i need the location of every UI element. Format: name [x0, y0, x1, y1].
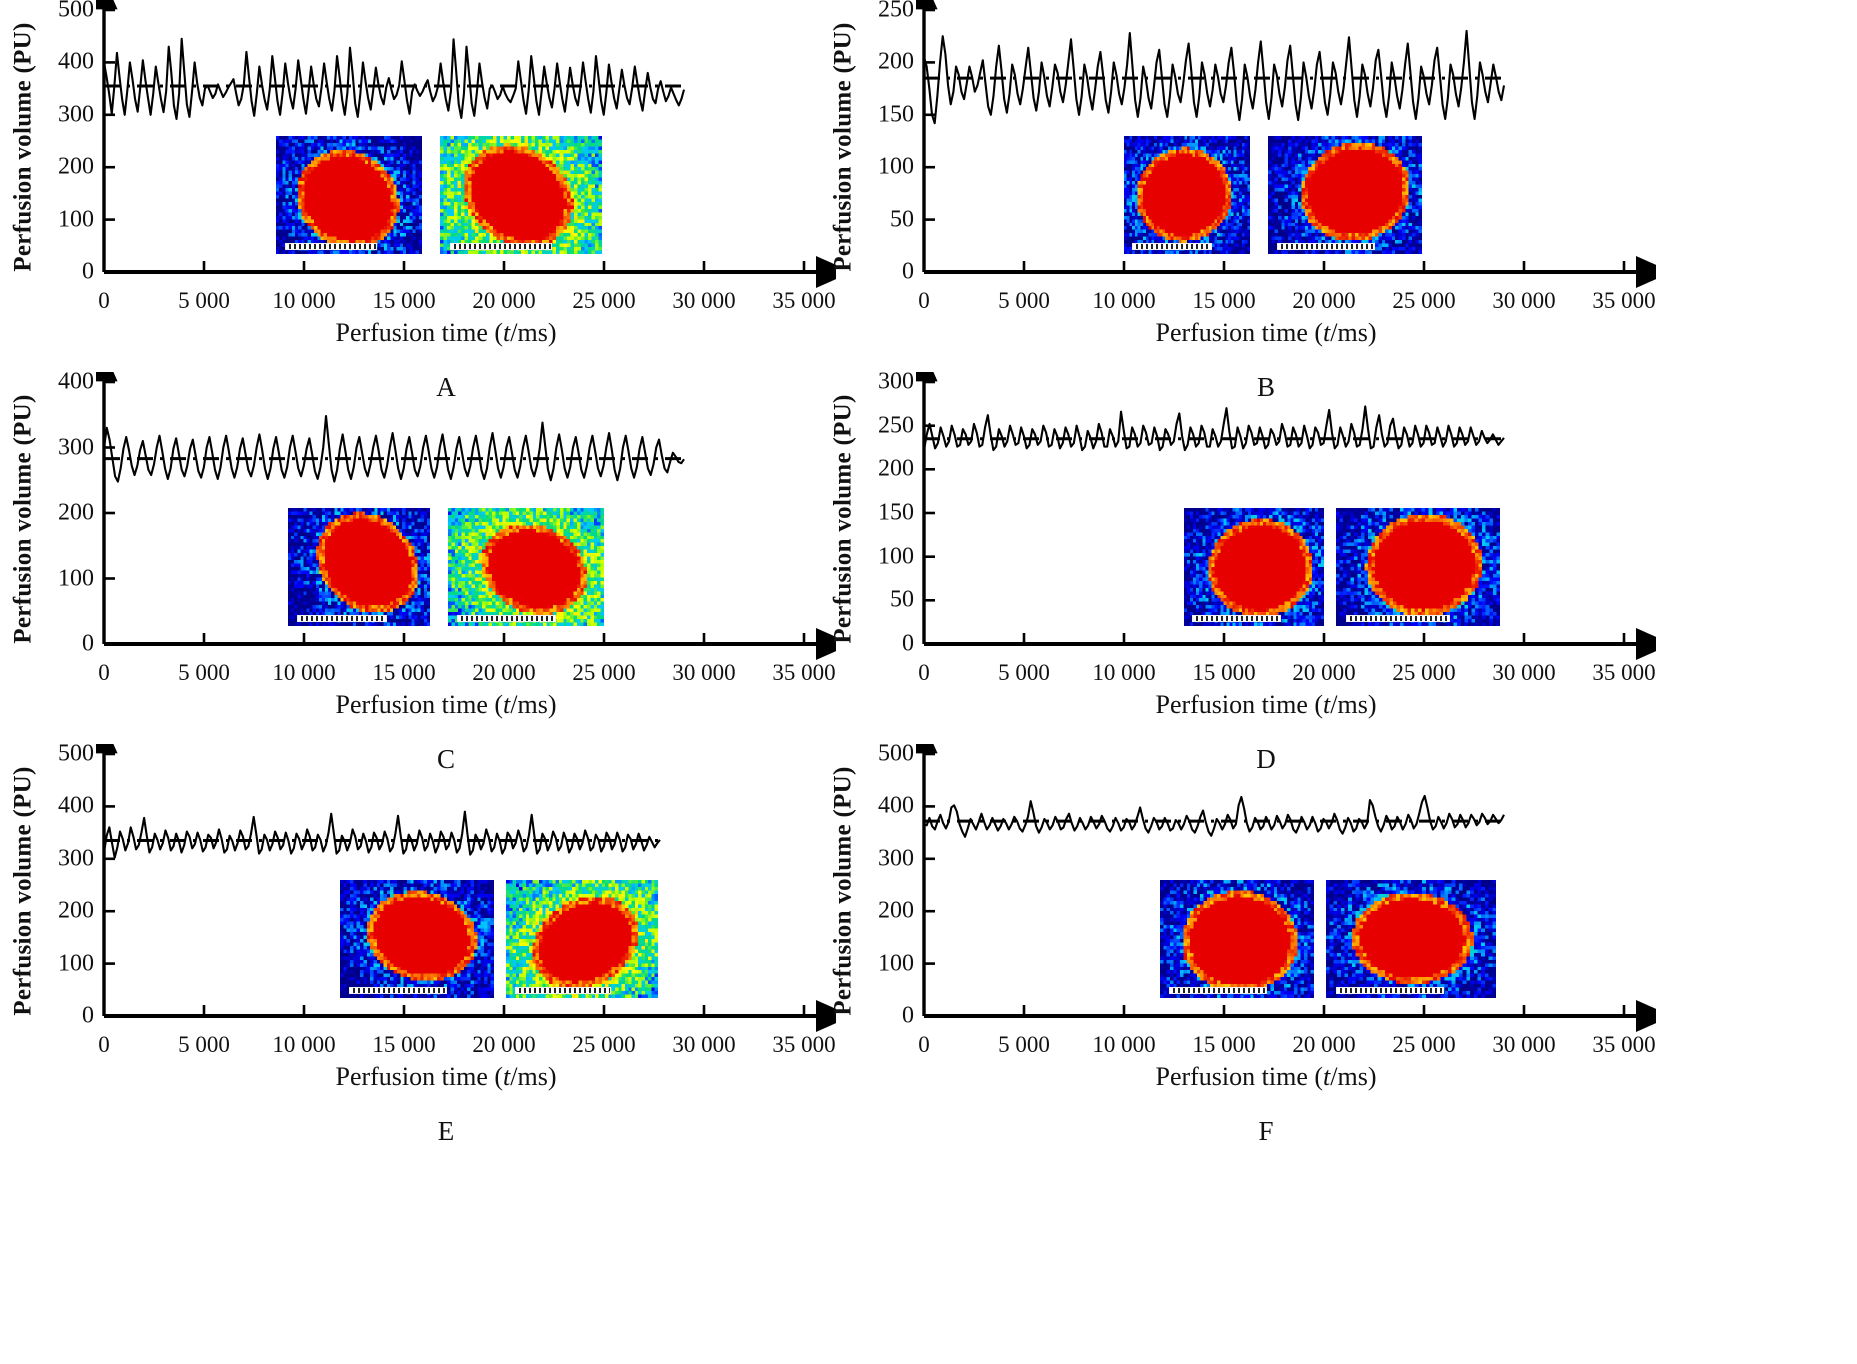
x-tick-label: 35 000 — [1592, 288, 1655, 314]
x-tick-label: 5 000 — [998, 660, 1050, 686]
perfusion-map-after — [1326, 880, 1496, 998]
x-tick-label: 10 000 — [1092, 660, 1155, 686]
y-tick-label: 0 — [902, 1003, 914, 1030]
scale-bar — [457, 615, 556, 622]
x-axis-label: Perfusion time (t/ms) — [96, 1062, 796, 1092]
y-tick-label: 300 — [58, 845, 94, 872]
x-tick-label: 5 000 — [178, 1032, 230, 1058]
plot-area: Perfusion volume (PU)010020030040050005 … — [0, 0, 928, 300]
panel-letter: F — [916, 1116, 1616, 1147]
y-tick-label: 200 — [878, 898, 914, 925]
x-tick-label: 35 000 — [1592, 1032, 1655, 1058]
x-tick-label: 30 000 — [672, 660, 735, 686]
perfusion-map-after — [506, 880, 658, 998]
x-tick-label: 20 000 — [1292, 1032, 1355, 1058]
x-axis-ticks: 05 00010 00015 00020 00025 00030 00035 0… — [96, 1020, 816, 1060]
scale-bar — [297, 615, 387, 622]
x-axis-label: Perfusion time (t/ms) — [916, 1062, 1616, 1092]
y-tick-label: 200 — [58, 500, 94, 527]
y-tick-label: 0 — [82, 1003, 94, 1030]
x-tick-label: 30 000 — [1492, 288, 1555, 314]
scale-bar — [1336, 987, 1443, 994]
y-tick-label: 0 — [902, 259, 914, 286]
perfusion-map-before — [1124, 136, 1250, 254]
y-axis-ticks: 0100200300400500 — [36, 744, 98, 1044]
y-tick-label: 400 — [878, 793, 914, 820]
y-tick-label: 100 — [58, 565, 94, 592]
plot-area: Perfusion volume (PU)0501001502002503000… — [820, 372, 1748, 672]
x-tick-label: 25 000 — [1392, 288, 1455, 314]
y-tick-label: 300 — [58, 434, 94, 461]
y-tick-label: 400 — [58, 49, 94, 76]
y-tick-label: 200 — [878, 456, 914, 483]
perfusion-map-after — [1336, 508, 1500, 626]
y-axis-ticks: 050100150200250 — [856, 0, 918, 300]
x-tick-label: 20 000 — [472, 288, 535, 314]
y-tick-label: 400 — [58, 793, 94, 820]
x-axis-label: Perfusion time (t/ms) — [96, 318, 796, 348]
y-tick-label: 300 — [878, 845, 914, 872]
x-axis-ticks: 05 00010 00015 00020 00025 00030 00035 0… — [96, 648, 816, 688]
perfusion-map-before — [1184, 508, 1324, 626]
y-tick-label: 200 — [58, 898, 94, 925]
perfusion-map-after — [440, 136, 602, 254]
x-tick-label: 20 000 — [1292, 288, 1355, 314]
perfusion-waveform — [924, 31, 1504, 123]
y-tick-label: 500 — [58, 741, 94, 768]
scale-bar — [1192, 615, 1281, 622]
x-tick-label: 35 000 — [1592, 660, 1655, 686]
x-tick-label: 15 000 — [372, 1032, 435, 1058]
x-tick-label: 0 — [918, 660, 930, 686]
x-tick-label: 25 000 — [1392, 660, 1455, 686]
x-tick-label: 10 000 — [1092, 1032, 1155, 1058]
perfusion-map-before — [276, 136, 422, 254]
scale-bar — [1277, 243, 1374, 250]
x-tick-label: 20 000 — [472, 1032, 535, 1058]
figure-panel-grid: Perfusion volume (PU)010020030040050005 … — [0, 0, 1857, 1364]
x-tick-label: 15 000 — [372, 288, 435, 314]
y-axis-ticks: 0100200300400 — [36, 372, 98, 672]
scale-bar — [1169, 987, 1266, 994]
plot-area: Perfusion volume (PU)010020030040050005 … — [0, 744, 928, 1044]
y-tick-label: 0 — [902, 631, 914, 658]
x-axis-label: Perfusion time (t/ms) — [916, 690, 1616, 720]
plot-area: Perfusion volume (PU)05010015020025005 0… — [820, 0, 1748, 300]
y-tick-label: 100 — [878, 543, 914, 570]
x-tick-label: 5 000 — [998, 1032, 1050, 1058]
x-tick-label: 10 000 — [1092, 288, 1155, 314]
x-tick-label: 0 — [918, 288, 930, 314]
perfusion-waveform — [924, 796, 1504, 837]
y-tick-label: 500 — [58, 0, 94, 24]
x-tick-label: 25 000 — [572, 288, 635, 314]
scale-bar — [1132, 243, 1212, 250]
y-tick-label: 50 — [890, 206, 914, 233]
perfusion-map-before — [340, 880, 494, 998]
y-tick-label: 100 — [878, 154, 914, 181]
y-axis-ticks: 050100150200250300 — [856, 372, 918, 672]
y-tick-label: 250 — [878, 0, 914, 24]
y-tick-label: 0 — [82, 259, 94, 286]
x-tick-label: 25 000 — [572, 1032, 635, 1058]
perfusion-waveform — [924, 406, 1504, 450]
y-tick-label: 250 — [878, 412, 914, 439]
scale-bar — [1346, 615, 1450, 622]
x-axis-ticks: 05 00010 00015 00020 00025 00030 00035 0… — [916, 648, 1636, 688]
scale-bar — [515, 987, 611, 994]
x-axis-ticks: 05 00010 00015 00020 00025 00030 00035 0… — [916, 276, 1636, 316]
x-tick-label: 0 — [98, 1032, 110, 1058]
x-tick-label: 5 000 — [998, 288, 1050, 314]
x-axis-ticks: 05 00010 00015 00020 00025 00030 00035 0… — [96, 276, 816, 316]
x-tick-label: 10 000 — [272, 288, 335, 314]
x-tick-label: 30 000 — [1492, 660, 1555, 686]
x-tick-label: 25 000 — [572, 660, 635, 686]
perfusion-map-before — [288, 508, 430, 626]
x-tick-label: 25 000 — [1392, 1032, 1455, 1058]
panel-e: Perfusion volume (PU)010020030040050005 … — [0, 744, 928, 1199]
y-tick-label: 200 — [878, 49, 914, 76]
y-tick-label: 100 — [58, 950, 94, 977]
y-tick-label: 150 — [878, 101, 914, 128]
x-tick-label: 0 — [98, 288, 110, 314]
x-tick-label: 5 000 — [178, 660, 230, 686]
x-tick-label: 0 — [918, 1032, 930, 1058]
x-tick-label: 15 000 — [1192, 660, 1255, 686]
plot-area: Perfusion volume (PU)010020030040050005 … — [820, 744, 1748, 1044]
perfusion-map-after — [1268, 136, 1422, 254]
y-tick-label: 200 — [58, 154, 94, 181]
x-tick-label: 15 000 — [1192, 1032, 1255, 1058]
y-tick-label: 50 — [890, 587, 914, 614]
x-tick-label: 30 000 — [672, 1032, 735, 1058]
plot-area: Perfusion volume (PU)010020030040005 000… — [0, 372, 928, 672]
perfusion-map-before — [1160, 880, 1314, 998]
panel-letter: E — [96, 1116, 796, 1147]
x-axis-ticks: 05 00010 00015 00020 00025 00030 00035 0… — [916, 1020, 1636, 1060]
x-tick-label: 30 000 — [1492, 1032, 1555, 1058]
y-tick-label: 150 — [878, 500, 914, 527]
perfusion-map-after — [448, 508, 604, 626]
y-axis-ticks: 0100200300400500 — [36, 0, 98, 300]
x-tick-label: 20 000 — [472, 660, 535, 686]
y-tick-label: 0 — [82, 631, 94, 658]
x-axis-label: Perfusion time (t/ms) — [916, 318, 1616, 348]
perfusion-waveform — [104, 416, 684, 482]
x-tick-label: 0 — [98, 660, 110, 686]
scale-bar — [285, 243, 378, 250]
y-tick-label: 100 — [58, 206, 94, 233]
perfusion-waveform — [104, 812, 660, 858]
x-tick-label: 10 000 — [272, 660, 335, 686]
perfusion-waveform — [104, 39, 684, 119]
scale-bar — [450, 243, 552, 250]
y-tick-label: 300 — [58, 101, 94, 128]
x-tick-label: 10 000 — [272, 1032, 335, 1058]
panel-f: Perfusion volume (PU)010020030040050005 … — [820, 744, 1748, 1199]
x-tick-label: 30 000 — [672, 288, 735, 314]
y-tick-label: 500 — [878, 741, 914, 768]
x-tick-label: 5 000 — [178, 288, 230, 314]
y-tick-label: 100 — [878, 950, 914, 977]
x-tick-label: 15 000 — [372, 660, 435, 686]
y-axis-ticks: 0100200300400500 — [856, 744, 918, 1044]
x-axis-label: Perfusion time (t/ms) — [96, 690, 796, 720]
scale-bar — [349, 987, 446, 994]
x-tick-label: 15 000 — [1192, 288, 1255, 314]
y-tick-label: 400 — [58, 369, 94, 396]
x-tick-label: 20 000 — [1292, 660, 1355, 686]
y-tick-label: 300 — [878, 369, 914, 396]
